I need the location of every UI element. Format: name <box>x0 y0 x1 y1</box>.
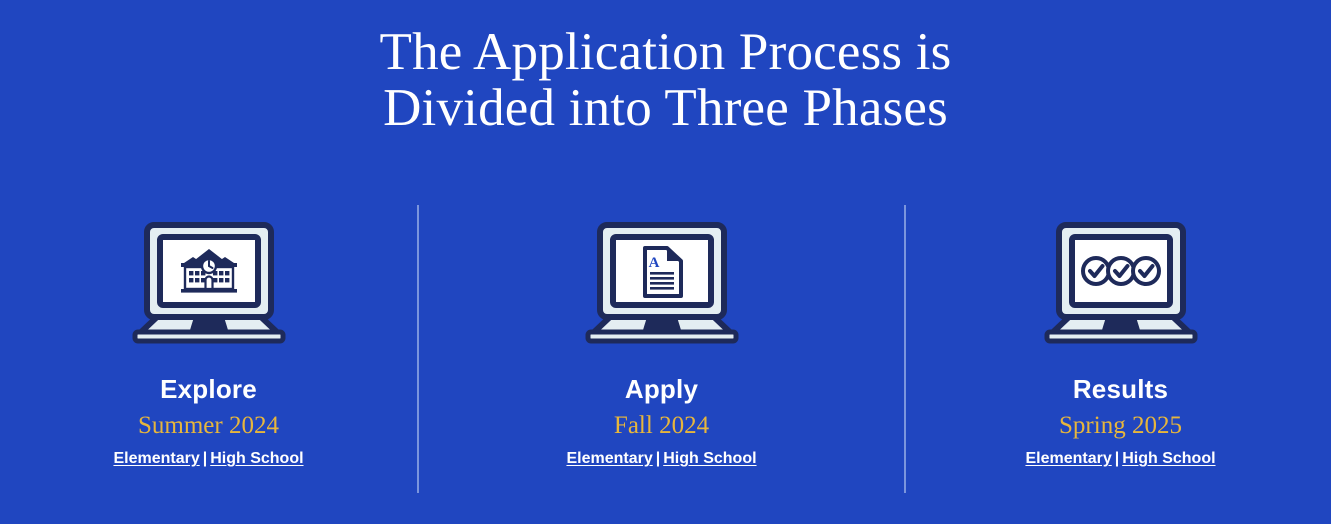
phase-term: Spring 2025 <box>1059 412 1182 440</box>
link-elementary[interactable]: Elementary <box>1025 450 1111 467</box>
link-separator: | <box>653 449 663 469</box>
svg-text:A: A <box>648 255 659 271</box>
page-title-line-2: Divided into Three Phases <box>0 80 1331 136</box>
link-separator: | <box>1112 449 1122 469</box>
link-elementary[interactable]: Elementary <box>113 450 199 467</box>
check-circle-2 <box>1108 258 1134 284</box>
check-circle-1 <box>1083 258 1109 284</box>
phase-card-results: Results Spring 2025 Elementary|High Scho… <box>906 205 1331 469</box>
phase-title: Results <box>1073 374 1168 404</box>
phase-card-apply: A Apply Fall 2024 Elementary|High School <box>419 205 904 469</box>
phases-row: Explore Summer 2024 Elementary|High Scho… <box>0 205 1331 495</box>
check-circle-3 <box>1133 258 1159 284</box>
link-high-school[interactable]: High School <box>663 450 756 467</box>
phase-title: Explore <box>160 374 257 404</box>
phase-links: Elementary|High School <box>1025 449 1215 469</box>
link-high-school[interactable]: High School <box>210 450 303 467</box>
phase-title: Apply <box>625 374 698 404</box>
page-title: The Application Process is Divided into … <box>0 24 1331 136</box>
phase-card-explore: Explore Summer 2024 Elementary|High Scho… <box>0 205 417 469</box>
page-title-line-1: The Application Process is <box>0 24 1331 80</box>
laptop-school-icon <box>129 222 289 344</box>
laptop-document-icon: A <box>582 222 742 344</box>
application-process-section: The Application Process is Divided into … <box>0 0 1331 524</box>
laptop-checkmarks-icon <box>1041 222 1201 344</box>
link-high-school[interactable]: High School <box>1122 450 1215 467</box>
phase-term: Summer 2024 <box>138 412 279 440</box>
phase-term: Fall 2024 <box>614 412 709 440</box>
phase-links: Elementary|High School <box>566 449 756 469</box>
link-separator: | <box>200 449 210 469</box>
phase-links: Elementary|High School <box>113 449 303 469</box>
link-elementary[interactable]: Elementary <box>566 450 652 467</box>
